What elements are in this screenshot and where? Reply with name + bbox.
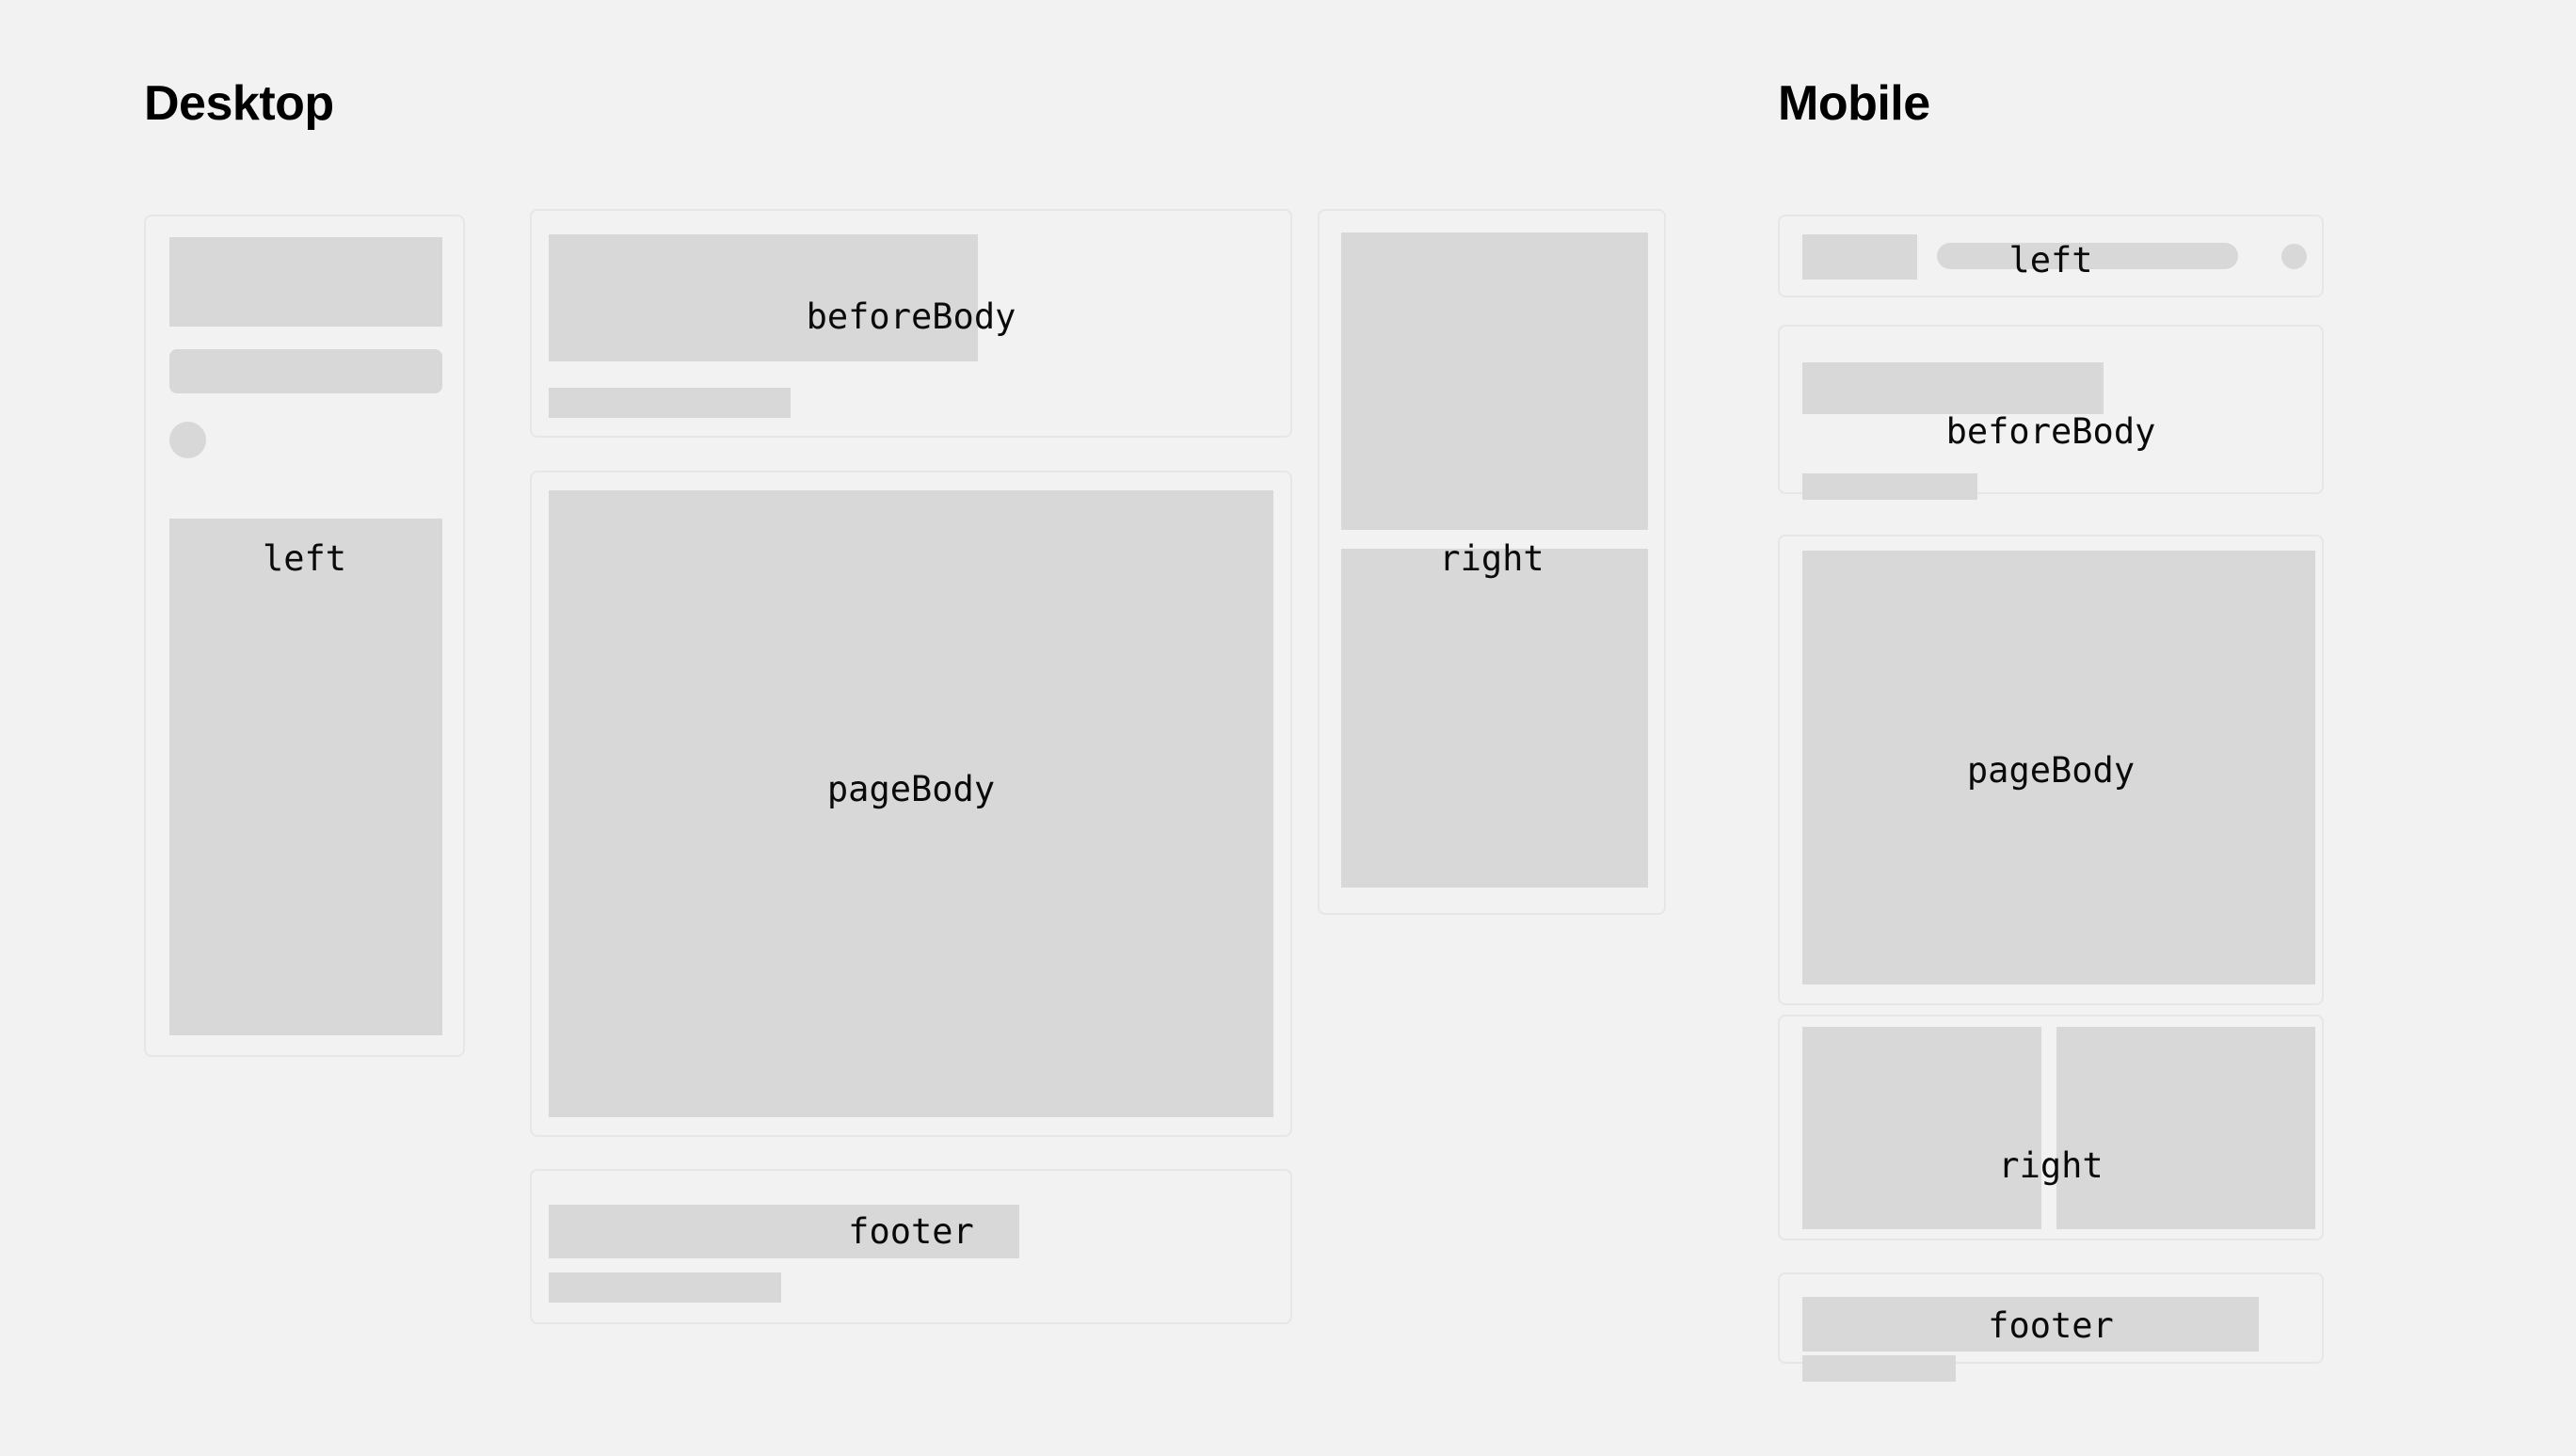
mobile-pagebody-placeholder-block: [1802, 551, 2315, 984]
desktop-beforebody-placeholder-bar: [549, 388, 791, 418]
desktop-column-title: Desktop: [144, 75, 334, 132]
mobile-left-placeholder-block: [1802, 234, 1917, 280]
desktop-left-placeholder-block-2: [169, 519, 442, 1035]
desktop-footer-placeholder-bar: [549, 1272, 781, 1303]
mobile-footer-placeholder-block: [1802, 1297, 2259, 1352]
mobile-footer-placeholder-bar: [1802, 1355, 1956, 1382]
mobile-left-placeholder-bar: [1937, 243, 2238, 269]
mobile-beforebody-placeholder-bar: [1802, 473, 1977, 500]
mobile-right-placeholder-block-2: [2056, 1027, 2315, 1229]
desktop-beforebody-placeholder-block: [549, 234, 978, 361]
desktop-pagebody-placeholder-block: [549, 490, 1273, 1117]
desktop-left-placeholder-bar: [169, 349, 442, 393]
mobile-left-placeholder-circle-icon: [2281, 244, 2307, 269]
mobile-right-placeholder-block-1: [1802, 1027, 2041, 1229]
desktop-right-placeholder-block-1: [1341, 232, 1648, 530]
mobile-column-title: Mobile: [1778, 75, 1930, 132]
desktop-right-placeholder-block-2: [1341, 549, 1648, 888]
desktop-left-placeholder-block-1: [169, 237, 442, 327]
mobile-beforebody-placeholder-block: [1802, 362, 2104, 414]
desktop-left-placeholder-circle-icon: [169, 422, 206, 458]
desktop-footer-placeholder-block: [549, 1205, 1019, 1258]
